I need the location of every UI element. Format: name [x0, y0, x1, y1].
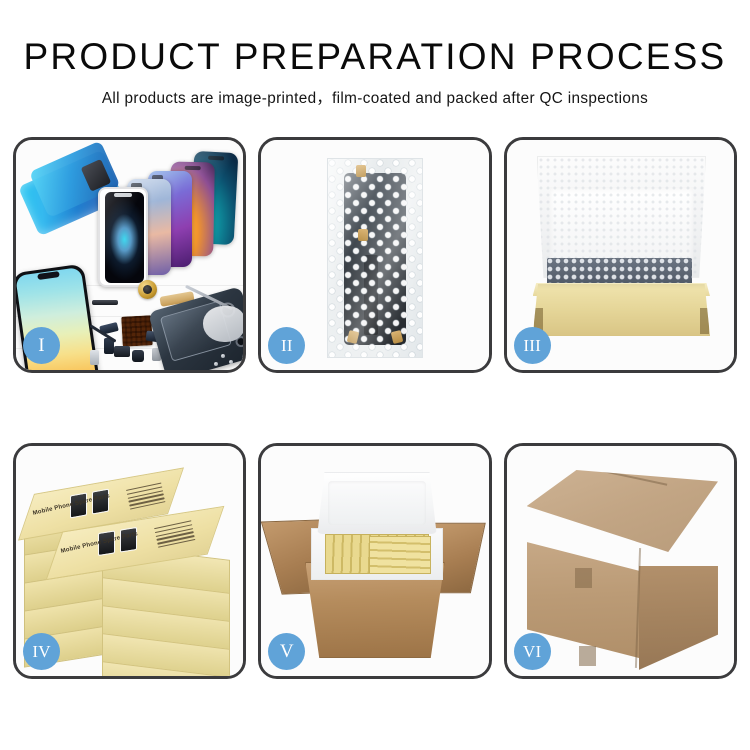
carton-side-face — [639, 566, 718, 670]
sealed-carton-icon — [521, 470, 720, 654]
carton-tab-lower — [579, 646, 596, 666]
open-kraft-box-icon — [533, 156, 710, 336]
page-subtitle: All products are image-printed，film-coat… — [0, 86, 750, 108]
earpiece-mesh-icon — [92, 300, 118, 305]
tempered-glass-screen-icon — [98, 187, 148, 287]
process-step-panel-2: II — [258, 137, 491, 373]
packed-yellow-boxes-b — [369, 536, 430, 574]
open-carton-icon — [273, 464, 476, 654]
step-badge-3: III — [514, 327, 551, 364]
step-badge-1: I — [23, 327, 60, 364]
speaker-icon — [114, 346, 130, 357]
page-title: PRODUCT PREPARATION PROCESS — [0, 38, 750, 77]
process-step-grid: I II — [13, 137, 737, 679]
bubble-wrap-bag-icon — [327, 158, 423, 358]
camera-module-icon — [138, 280, 157, 299]
process-step-panel-1: I — [13, 137, 246, 373]
carton-top-face — [527, 470, 718, 552]
side-button-icon — [90, 350, 99, 365]
product-preparation-process-graphic: PRODUCT PREPARATION PROCESS All products… — [0, 0, 750, 750]
stacked-retail-boxes-icon: Mobile Phone Spare Parts Mobile Phone Sp… — [24, 468, 231, 664]
vibration-motor-icon — [132, 350, 144, 362]
process-step-panel-4: Mobile Phone Spare Parts Mobile Phone Sp… — [13, 443, 246, 679]
process-step-panel-3: III — [504, 137, 737, 373]
kraft-tray-icon — [533, 284, 710, 336]
phone-display-fan — [94, 150, 244, 290]
tweezers-icon — [179, 292, 241, 346]
foam-lid-open-icon — [317, 472, 436, 534]
header: PRODUCT PREPARATION PROCESS All products… — [0, 0, 750, 108]
carton-tab-upper — [575, 568, 592, 588]
step-badge-6: VI — [514, 633, 551, 670]
step-badge-4: IV — [23, 633, 60, 670]
process-step-panel-6: VI — [504, 443, 737, 679]
process-step-panel-5: V — [258, 443, 491, 679]
